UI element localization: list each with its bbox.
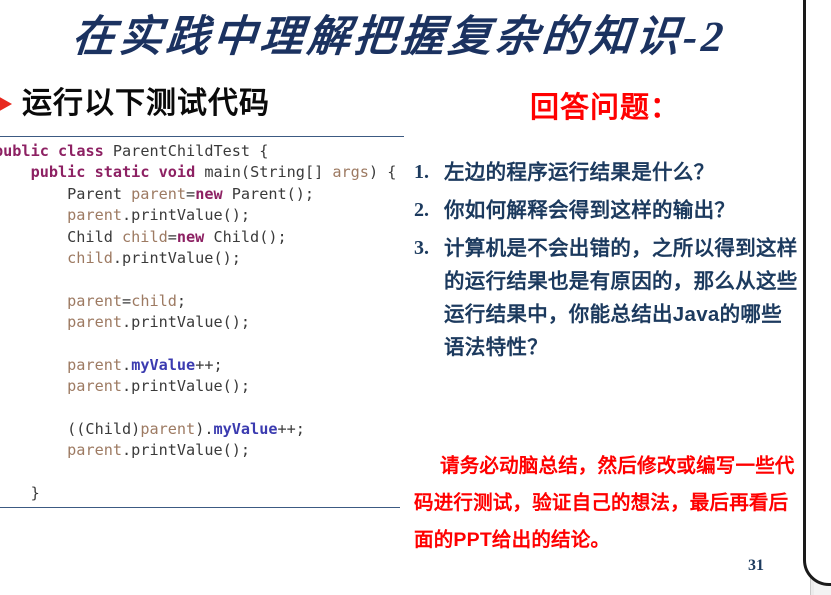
code-token-punct	[0, 206, 67, 224]
divider-bottom	[0, 507, 400, 508]
code-line: public static void main(String[] args) {	[0, 162, 414, 183]
question-item: 2.你如何解释会得到这样的输出？	[414, 194, 799, 227]
code-line	[0, 269, 414, 290]
code-token-kw: void	[159, 163, 196, 181]
code-token-var: parent	[67, 292, 122, 310]
code-line	[0, 398, 414, 419]
code-token-punct	[0, 441, 67, 459]
question-text: 左边的程序运行结果是什么？	[444, 156, 714, 189]
code-token-ident: }	[0, 484, 40, 502]
code-token-var: child	[122, 228, 168, 246]
java-code-block: public class ParentChildTest { public st…	[0, 141, 414, 505]
code-line	[0, 462, 414, 483]
code-token-ident: ) {	[369, 163, 396, 181]
question-text: 你如何解释会得到这样的输出？	[444, 194, 735, 227]
code-token-punct	[0, 313, 67, 331]
code-line: parent.printValue();	[0, 376, 414, 397]
code-token-ident: ++;	[278, 420, 305, 438]
code-token-kw: new	[177, 228, 204, 246]
red-arrow-bullet-icon	[0, 95, 12, 113]
code-line: parent.myValue++;	[0, 355, 414, 376]
code-token-kw: public	[31, 163, 86, 181]
code-line: parent.printValue();	[0, 312, 414, 333]
code-token-ident: .printValue();	[122, 377, 250, 395]
code-token-ident: .printValue();	[122, 206, 250, 224]
question-text: 计算机是不会出错的，之所以得到这样的运行结果也是有原因的，那么从这些运行结果中，…	[444, 232, 799, 364]
left-heading-label: 运行以下测试代码	[22, 89, 270, 119]
code-token-punct	[85, 163, 94, 181]
answer-questions-heading: 回答问题：	[420, 84, 790, 126]
code-token-field: myValue	[131, 356, 195, 374]
code-token-var: parent	[67, 441, 122, 459]
code-token-var: parent	[67, 313, 122, 331]
code-token-ident: .printValue();	[122, 441, 250, 459]
code-token-kw: new	[195, 185, 222, 203]
code-token-ident: main(String[]	[195, 163, 332, 181]
code-token-var: parent	[67, 206, 122, 224]
code-token-punct	[0, 292, 67, 310]
question-item: 3.计算机是不会出错的，之所以得到这样的运行结果也是有原因的，那么从这些运行结果…	[414, 232, 799, 364]
code-token-var: parent	[67, 377, 122, 395]
code-token-ident: ++;	[195, 356, 222, 374]
code-line: public class ParentChildTest {	[0, 141, 414, 162]
code-line: }	[0, 483, 414, 504]
divider-top	[0, 136, 404, 137]
slide-root: 在实践中理解把握复杂的知识-2 运行以下测试代码 public class Pa…	[0, 0, 831, 595]
right-side-pane-inner	[814, 0, 831, 595]
code-token-var: parent	[67, 356, 122, 374]
question-item: 1.左边的程序运行结果是什么？	[414, 156, 799, 189]
code-line: ((Child)parent).myValue++;	[0, 419, 414, 440]
code-token-punct	[0, 249, 67, 267]
code-token-punct	[49, 142, 58, 160]
code-line: parent.printValue();	[0, 205, 414, 226]
question-list: 1.左边的程序运行结果是什么？2.你如何解释会得到这样的输出？3.计算机是不会出…	[414, 156, 799, 369]
code-token-ident: Parent	[0, 185, 131, 203]
page-number: 31	[748, 557, 764, 575]
code-token-ident: Child();	[204, 228, 286, 246]
code-token-field: myValue	[213, 420, 277, 438]
instructor-note: 请务必动脑总结，然后修改或编写一些代码进行测试，验证自己的想法，最后再看后面的P…	[414, 448, 806, 559]
code-line: Child child=new Child();	[0, 227, 414, 248]
code-line: child.printValue();	[0, 248, 414, 269]
code-token-ident: ((Child)	[0, 420, 140, 438]
question-number: 2.	[414, 194, 444, 226]
code-token-ident: Parent();	[223, 185, 314, 203]
code-token-ident: Child	[0, 228, 122, 246]
code-token-var: parent	[131, 185, 186, 203]
code-line: parent=child;	[0, 291, 414, 312]
code-token-var: child	[131, 292, 177, 310]
code-token-ident: =	[186, 185, 195, 203]
question-number: 3.	[414, 232, 444, 264]
code-token-kw: public	[0, 142, 49, 160]
code-token-ident: ParentChildTest {	[104, 142, 269, 160]
code-token-ident: .printValue();	[113, 249, 241, 267]
left-section-heading: 运行以下测试代码	[8, 89, 270, 119]
code-token-ident: .printValue();	[122, 313, 250, 331]
code-token-punct	[149, 163, 158, 181]
code-token-ident: ).	[195, 420, 213, 438]
code-line: Parent parent=new Parent();	[0, 184, 414, 205]
code-token-punct	[0, 377, 67, 395]
code-token-ident: =	[168, 228, 177, 246]
code-token-kw: static	[95, 163, 150, 181]
code-token-punct	[0, 356, 67, 374]
code-line: parent.printValue();	[0, 440, 414, 461]
question-number: 1.	[414, 156, 444, 188]
code-token-kw: class	[58, 142, 104, 160]
code-token-ident: ;	[177, 292, 186, 310]
code-token-var: child	[67, 249, 113, 267]
code-token-var: parent	[140, 420, 195, 438]
slide-title: 在实践中理解把握复杂的知识-2	[0, 2, 803, 64]
code-token-punct	[0, 163, 31, 181]
code-token-ident: =	[122, 292, 131, 310]
code-line	[0, 334, 414, 355]
code-token-var: args	[332, 163, 369, 181]
code-token-ident: .	[122, 356, 131, 374]
